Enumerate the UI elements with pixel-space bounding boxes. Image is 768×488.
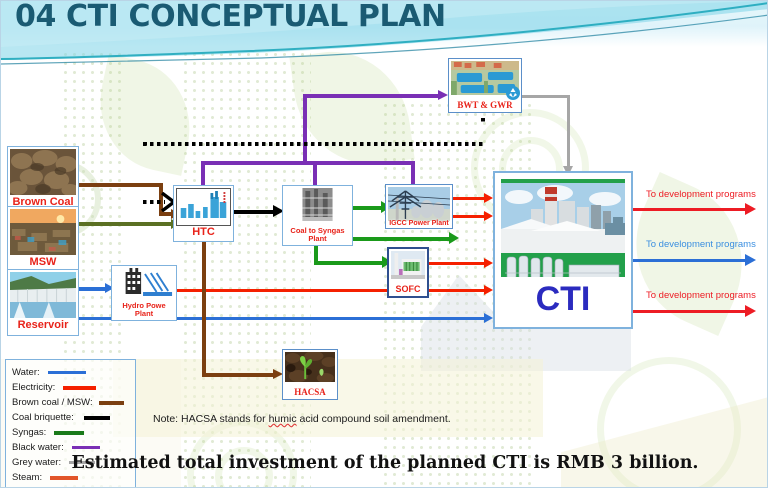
line-htc-hacsa-v [202,234,206,375]
cti-out-line-3 [633,310,645,313]
node-label-bwt-gwr: BWT & GWR [451,100,519,110]
dotline-horizontal [143,142,485,146]
line-grey-bwt-right [522,95,570,98]
legend-item-water: Water: [12,365,135,380]
node-cti[interactable]: CTI [493,171,633,329]
node-label-reservoir: Reservoir [10,318,76,333]
output-arrow-2 [745,254,756,266]
output-arrow-1 [745,203,756,215]
legend-label-black-water: Black water: [12,442,64,453]
output-line-3 [644,310,748,313]
node-reservoir[interactable]: Reservoir [7,269,79,336]
legend-item-coal-briquette: Coal briquette: [12,410,135,425]
legend-swatch-brown-coal-msw [99,401,124,405]
line-hydro-cti [177,289,487,292]
legend-label-electricity: Electricity: [12,382,55,393]
hacsa-image [285,352,335,387]
hacsa-note-underlined: humic [269,413,297,425]
legend-swatch-coal-briquette [84,416,110,420]
line-syngas-sofc-h [314,261,386,265]
node-label-sofc: SOFC [391,284,425,294]
output-label-3: To development programs [646,290,756,301]
hacsa-note-prefix: Note: HACSA stands for [153,413,269,425]
reservoir-image [10,272,76,318]
cti-out-line-2 [633,259,645,262]
cti-tanks-image [501,255,625,277]
legend-swatch-electricity [63,386,96,390]
line-purple-main-riser [303,94,307,164]
sofc-image [391,251,425,284]
output-line-2 [644,259,748,262]
node-bwt-gwr[interactable]: BWT & GWR [448,58,522,113]
output-label-1: To development programs [646,189,756,200]
legend-label-water: Water: [12,367,40,378]
legend-item-syngas: Syngas: [12,425,135,440]
arrow-purple-bwt [438,90,448,100]
legend-item-brown-coal-msw: Brown coal / MSW: [12,395,135,410]
arrow-hydro-cti [484,285,493,295]
legend-swatch-black-water [72,446,100,449]
output-line-1 [644,208,748,211]
node-hydro-power-plant[interactable]: Hydro Powe Plant [111,265,177,321]
line-htc-hacsa-h [202,373,276,377]
arrow-syngas-right [449,232,459,244]
legend-label-coal-briquette: Coal briquette: [12,412,74,423]
legend-label-brown-coal-msw: Brown coal / MSW: [12,397,93,408]
line-grey-down [567,95,570,169]
line-igcc-cti-2 [453,215,487,218]
page-title: 04 CTI CONCEPTUAL PLAN [15,0,446,34]
arrow-igcc-cti-2 [484,211,493,221]
output-label-2: To development programs [646,239,756,250]
slide-canvas: 04 CTI CONCEPTUAL PLAN [0,0,768,488]
cti-green-panel [501,179,625,277]
investment-statement: Estimated total investment of the planne… [1,453,768,473]
line-msw-htc [73,222,173,226]
node-label-hydro: Hydro Powe Plant [114,301,174,318]
node-label-msw: MSW [10,255,76,270]
arrow-igcc-cti-1 [484,193,493,203]
node-label-igcc: IGCC Power Plant [386,219,452,227]
line-browncoal-htc-h1 [73,183,161,187]
arrow-sofc-cti [484,258,493,268]
legend-swatch-steam [50,476,78,480]
hacsa-note: Note: HACSA stands for humic acid compou… [153,413,451,425]
legend-label-steam: Steam: [12,472,42,483]
legend-item-electricity: Electricity: [12,380,135,395]
line-sofc-cti [425,262,487,265]
node-msw[interactable]: MSW [7,206,79,273]
coal-syngas-image [285,188,350,226]
dotline-bwt-down [481,118,485,145]
msw-image [10,209,76,255]
cti-plant-image [501,183,625,253]
recycle-badge-icon [506,86,520,100]
node-hacsa[interactable]: HACSA [282,349,338,400]
dotline-left-down [143,142,147,204]
node-label-hacsa: HACSA [285,387,335,397]
node-label-coal-syngas: Coal to Syngas Plant [285,226,350,243]
brown-coal-image [10,149,76,195]
legend-swatch-water [48,371,86,374]
hacsa-note-suffix: acid compound soil amendment. [297,413,451,425]
node-brown-coal[interactable]: Brown Coal [7,146,79,213]
output-arrow-3 [745,305,756,317]
node-label-htc: HTC [176,226,231,239]
arrow-reservoir-cti [484,313,493,323]
legend-label-syngas: Syngas: [12,427,46,438]
line-syngas-right [353,237,453,241]
htc-image [176,188,231,226]
line-purple-to-bwt [303,94,441,98]
line-purple-bus [201,161,415,165]
line-igcc-cti-1 [453,197,487,200]
node-htc[interactable]: HTC [173,185,234,242]
legend-swatch-syngas [54,431,84,435]
line-htc-syngas [234,210,276,214]
hydro-image [114,268,174,301]
cti-out-line-1 [633,208,645,211]
node-igcc-power-plant[interactable]: IGCC Power Plant [385,184,453,229]
node-label-cti: CTI [501,281,625,318]
node-coal-to-syngas-plant[interactable]: Coal to Syngas Plant [282,185,353,246]
node-sofc[interactable]: SOFC [387,247,429,298]
